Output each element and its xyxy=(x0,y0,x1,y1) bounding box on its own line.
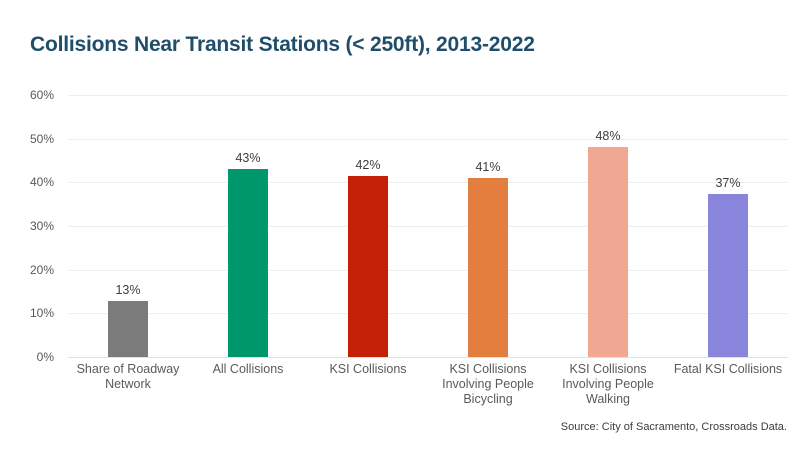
x-axis-tick-label-line: Involving People xyxy=(428,377,548,392)
y-axis-tick-label: 60% xyxy=(0,88,60,102)
x-axis-tick-label: Fatal KSI Collisions xyxy=(668,362,788,377)
bar-group: 37% xyxy=(668,95,788,357)
x-axis-tick-label: KSI Collisions xyxy=(308,362,428,377)
x-axis-tick-label: All Collisions xyxy=(188,362,308,377)
chart-page: Collisions Near Transit Stations (< 250f… xyxy=(0,0,809,455)
x-axis: Share of RoadwayNetworkAll CollisionsKSI… xyxy=(68,362,788,422)
bar[interactable] xyxy=(588,147,628,357)
bar[interactable] xyxy=(348,176,388,357)
bar[interactable] xyxy=(468,178,508,357)
y-axis-tick-label: 40% xyxy=(0,175,60,189)
x-axis-tick-label-line: KSI Collisions xyxy=(428,362,548,377)
bar-value-label: 43% xyxy=(235,151,260,165)
x-axis-tick-label-line: Walking xyxy=(548,392,668,407)
plot-area: 13%43%42%41%48%37% xyxy=(68,95,788,357)
gridline xyxy=(68,357,788,358)
y-axis-tick-label: 30% xyxy=(0,219,60,233)
x-axis-tick-label: Share of RoadwayNetwork xyxy=(68,362,188,392)
bar-group: 13% xyxy=(68,95,188,357)
bar-value-label: 37% xyxy=(715,176,740,190)
bar-group: 48% xyxy=(548,95,668,357)
bar-series: 13%43%42%41%48%37% xyxy=(68,95,788,357)
bar[interactable] xyxy=(708,194,748,357)
x-axis-tick-label-line: Network xyxy=(68,377,188,392)
bar-value-label: 42% xyxy=(355,158,380,172)
x-axis-tick-label-line: Fatal KSI Collisions xyxy=(668,362,788,377)
bar[interactable] xyxy=(108,301,148,357)
page-title: Collisions Near Transit Stations (< 250f… xyxy=(30,33,535,57)
bar-group: 43% xyxy=(188,95,308,357)
y-axis: 60%50%40%30%20%10%0% xyxy=(0,95,60,357)
bar-group: 42% xyxy=(308,95,428,357)
y-axis-tick-label: 20% xyxy=(0,263,60,277)
x-axis-tick-label: KSI CollisionsInvolving PeopleWalking xyxy=(548,362,668,407)
bar-value-label: 41% xyxy=(475,160,500,174)
bar[interactable] xyxy=(228,169,268,357)
x-axis-tick-label-line: KSI Collisions xyxy=(308,362,428,377)
bar-value-label: 48% xyxy=(595,129,620,143)
bar-group: 41% xyxy=(428,95,548,357)
x-axis-tick-label-line: Share of Roadway xyxy=(68,362,188,377)
y-axis-tick-label: 50% xyxy=(0,132,60,146)
x-axis-tick-label-line: All Collisions xyxy=(188,362,308,377)
x-axis-tick-label-line: KSI Collisions xyxy=(548,362,668,377)
source-note: Source: City of Sacramento, Crossroads D… xyxy=(561,421,787,433)
x-axis-tick-label-line: Involving People xyxy=(548,377,668,392)
x-axis-tick-label-line: Bicycling xyxy=(428,392,548,407)
y-axis-tick-label: 10% xyxy=(0,306,60,320)
bar-value-label: 13% xyxy=(115,283,140,297)
x-axis-tick-label: KSI CollisionsInvolving PeopleBicycling xyxy=(428,362,548,407)
y-axis-tick-label: 0% xyxy=(0,350,60,364)
